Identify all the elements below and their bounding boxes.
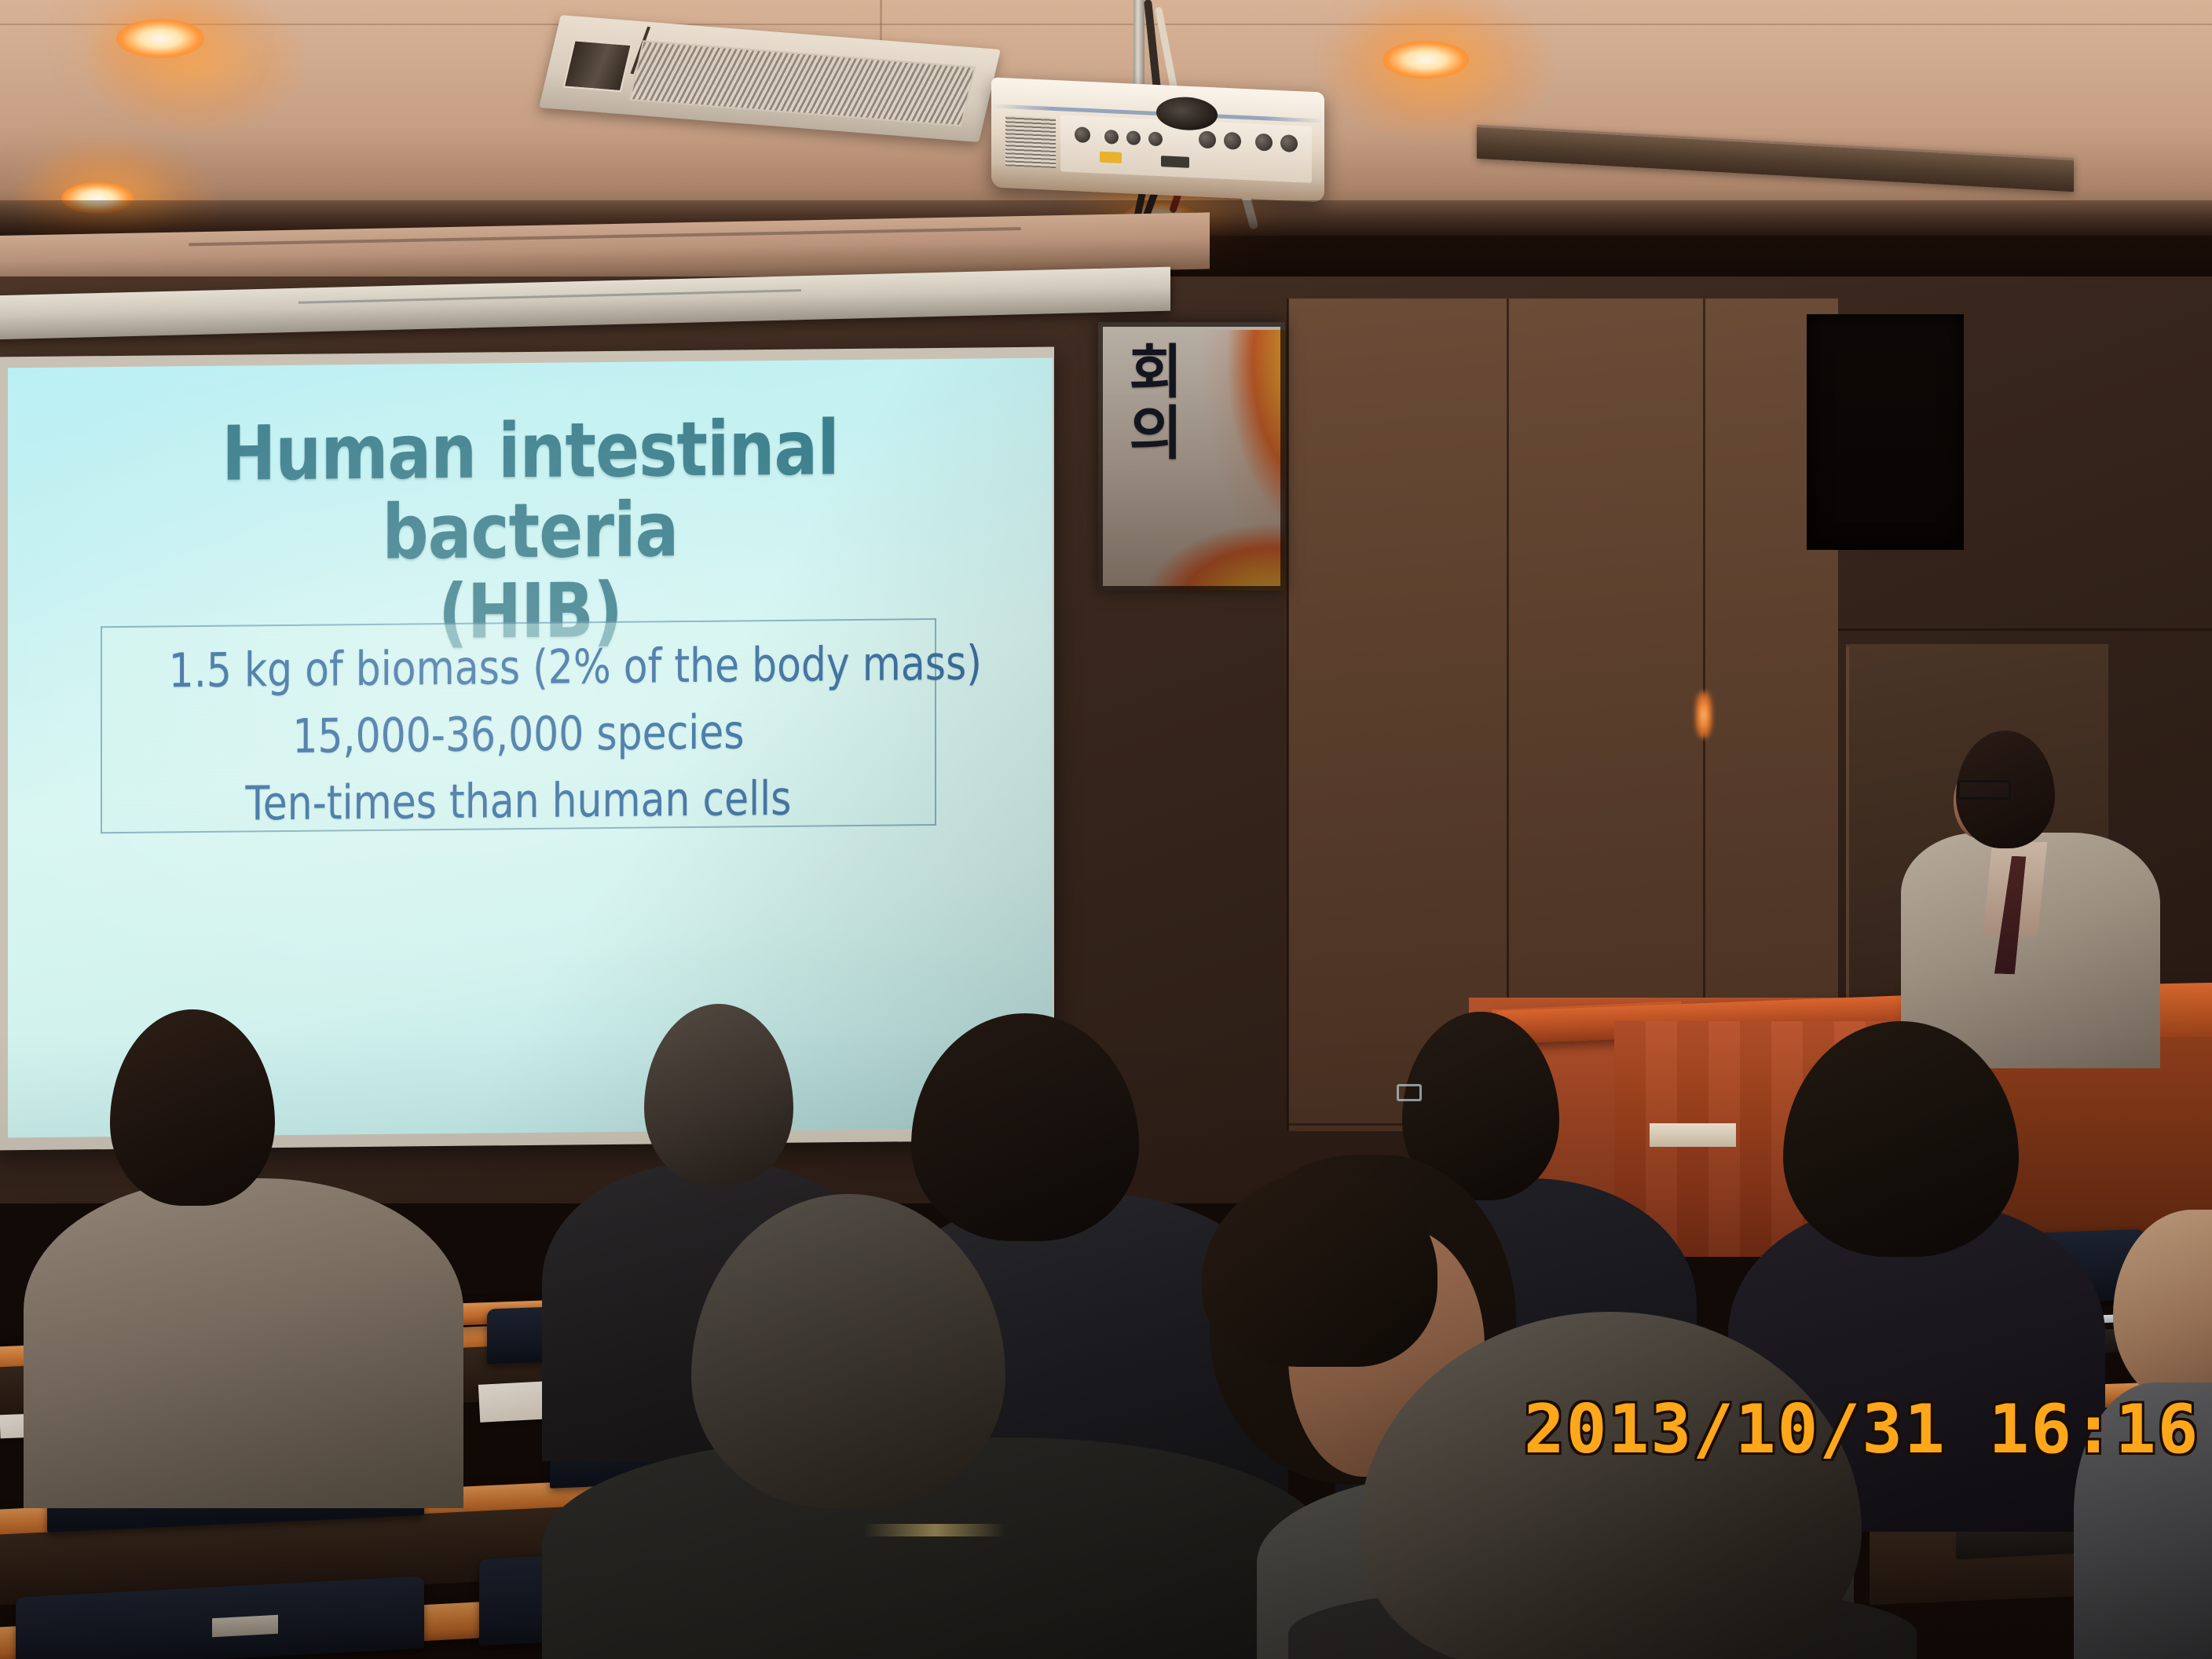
slide-text-box: 1.5 kg of biomass (2% of the body mass) … (101, 618, 936, 833)
downlight-3-icon (1382, 41, 1469, 79)
presenter-glasses-icon (1957, 780, 2011, 800)
downlight-1-icon (116, 19, 204, 58)
slide-title-line1: Human intestinal bacteria (81, 408, 980, 576)
lecture-hall-photo: 회의 Human intestinal bacteria (HIB) 1.5 k… (0, 0, 2212, 1659)
projector-port (1148, 131, 1163, 146)
projector-port (1075, 126, 1090, 143)
jacket-shoulder-text (864, 1524, 1005, 1536)
ceiling-seam (0, 24, 2212, 25)
projector-vent-grille (1005, 115, 1056, 168)
projector-port (1199, 130, 1216, 148)
ac-grille (628, 40, 976, 126)
wall-panel-seam (1838, 628, 2212, 631)
projector-port (1126, 130, 1141, 145)
projector-port (1104, 130, 1119, 145)
audience-torso (24, 1178, 463, 1508)
ceiling-projector (991, 77, 1324, 202)
ac-slot (563, 39, 632, 92)
wall-banner: 회의 (1098, 322, 1285, 591)
camera-timestamp: 2013/10/31 16:16 (1524, 1390, 2199, 1469)
wall-panel-seam (1287, 298, 1289, 1131)
soffit-groove (189, 227, 1021, 246)
projector-port (1280, 134, 1298, 152)
podium-name-plate (1650, 1123, 1736, 1147)
banner-frame (1098, 322, 1285, 591)
projector-mount-pipe (1133, 0, 1144, 93)
slide-bullet: 15,000-36,000 species (169, 698, 868, 772)
slide-bullet: 1.5 kg of biomass (2% of the body mass) (169, 632, 868, 705)
slide-bullet: Ten-times than human cells (169, 765, 868, 839)
wall-light-reflection (1695, 691, 1712, 738)
wall-recess-opening (1807, 314, 1964, 550)
audience-glasses-icon (1397, 1084, 1422, 1101)
projector-rca-yellow (1100, 152, 1122, 163)
chair-label-plate (212, 1615, 278, 1637)
projector-port (1224, 132, 1241, 150)
projector-vga-port (1161, 156, 1189, 168)
projector-port (1255, 134, 1273, 152)
screen-case-groove (298, 289, 801, 304)
